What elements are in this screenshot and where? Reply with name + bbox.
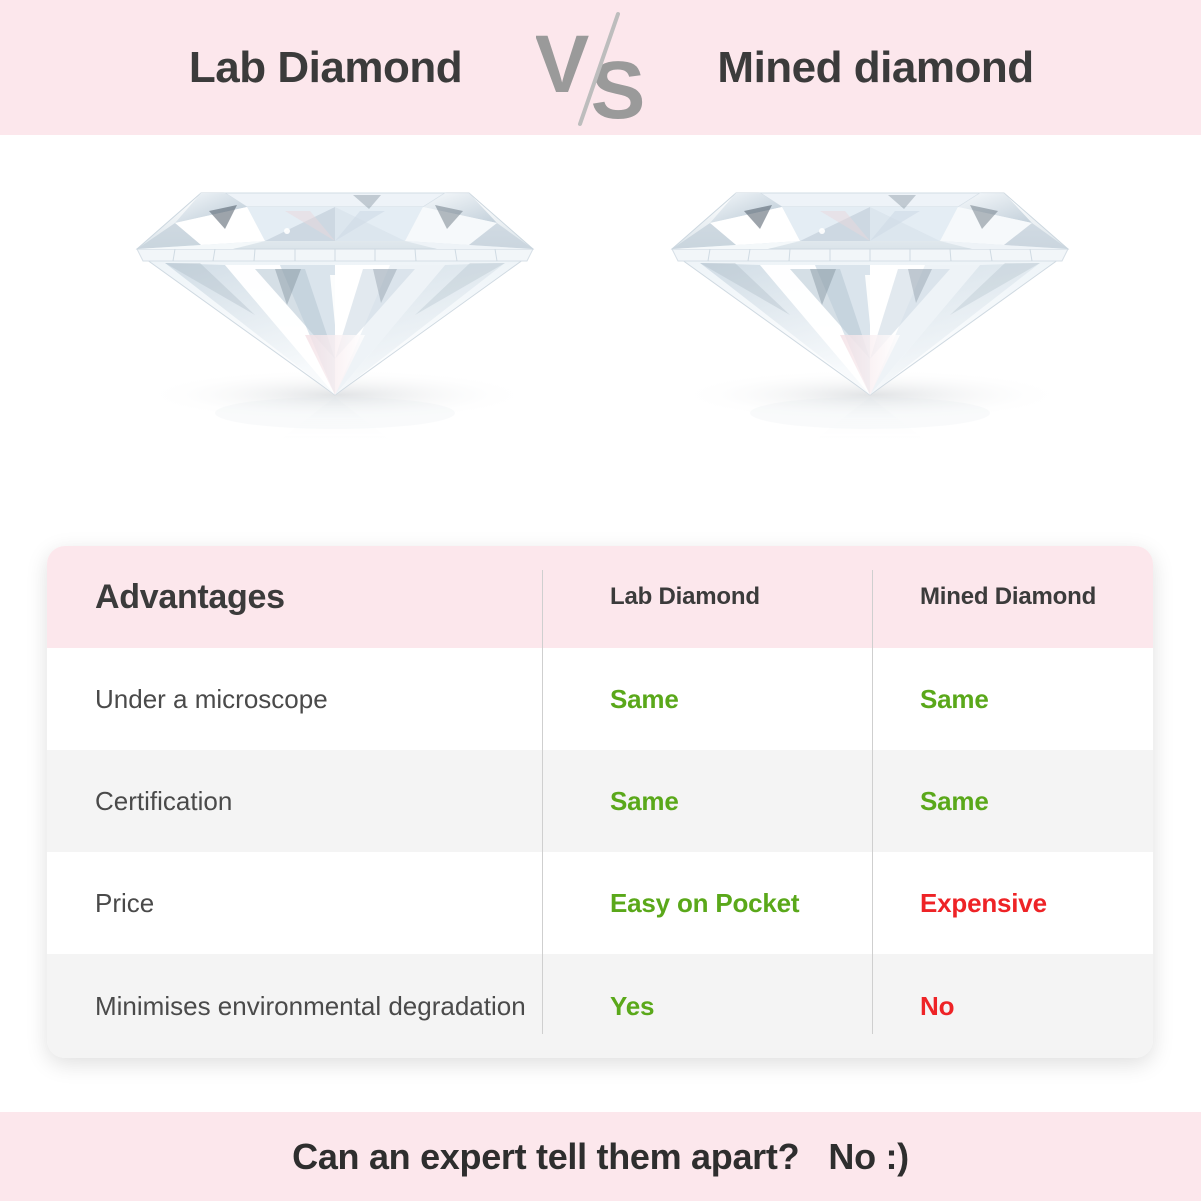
header-title-mined-diamond: Mined diamond <box>666 43 1086 93</box>
row-feature-label: Price <box>47 886 542 920</box>
column-divider-2 <box>872 570 873 1034</box>
table-header-mined-diamond: Mined Diamond <box>872 583 1153 611</box>
row-feature-label: Certification <box>47 784 542 818</box>
header-inner: Lab Diamond V S Mined diamond <box>0 0 1201 135</box>
table-row: Certification Same Same <box>47 750 1153 852</box>
table-row: Price Easy on Pocket Expensive <box>47 852 1153 954</box>
row-mined-value: Expensive <box>872 888 1153 919</box>
header-band: Lab Diamond V S Mined diamond <box>0 0 1201 135</box>
table-row: Under a microscope Same Same <box>47 648 1153 750</box>
table-header-lab-diamond: Lab Diamond <box>542 583 872 611</box>
lab-diamond-image <box>105 145 565 535</box>
versus-icon: V S <box>536 0 666 135</box>
svg-text:S: S <box>590 45 645 135</box>
row-mined-value: Same <box>872 684 1153 715</box>
footer-question: Can an expert tell them apart? No :) <box>292 1136 909 1178</box>
column-divider-1 <box>542 570 543 1034</box>
footer-band: Can an expert tell them apart? No :) <box>0 1112 1201 1201</box>
row-lab-value: Same <box>542 786 872 817</box>
row-lab-value: Yes <box>542 991 872 1022</box>
row-feature-label: Minimises environmental degradation <box>47 989 542 1023</box>
row-mined-value: No <box>872 991 1153 1022</box>
table-header-advantages: Advantages <box>47 578 542 617</box>
svg-text:V: V <box>536 19 590 110</box>
row-feature-label: Under a microscope <box>47 682 542 716</box>
row-mined-value: Same <box>872 786 1153 817</box>
row-lab-value: Easy on Pocket <box>542 888 872 919</box>
row-lab-value: Same <box>542 684 872 715</box>
table-header-row: Advantages Lab Diamond Mined Diamond <box>47 546 1153 648</box>
diamond-images-area <box>0 135 1201 540</box>
comparison-table: Advantages Lab Diamond Mined Diamond Und… <box>47 546 1153 1058</box>
header-title-lab-diamond: Lab Diamond <box>116 43 536 93</box>
mined-diamond-image <box>640 145 1100 535</box>
table-row: Minimises environmental degradation Yes … <box>47 954 1153 1058</box>
